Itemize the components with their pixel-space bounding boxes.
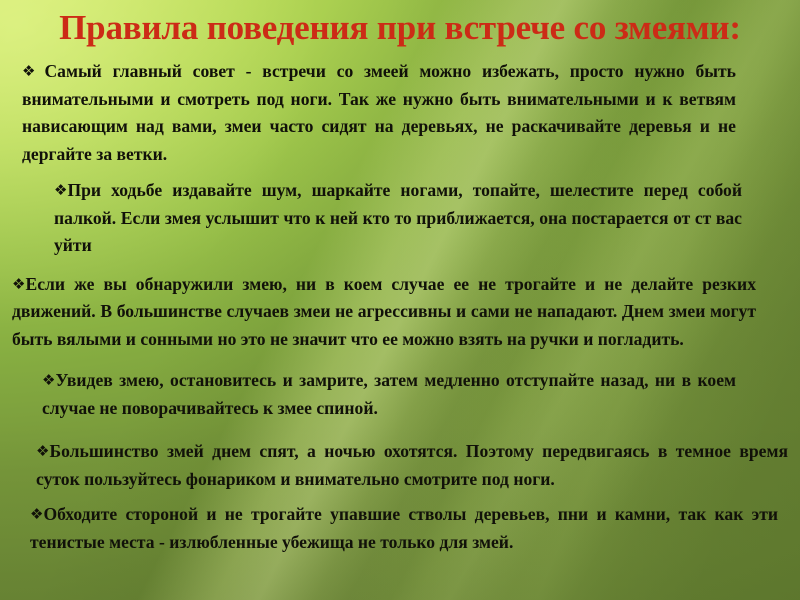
bullet-text-2: При ходьбе издавайте шум, шаркайте ногам…: [54, 180, 742, 255]
bullet-text-4: Увидев змею, остановитесь и замрите, зат…: [42, 370, 736, 418]
slide-content: Правила поведения при встрече со змеями:…: [0, 0, 800, 600]
slide-body: ❖Самый главный совет - встречи со змеей …: [0, 58, 800, 556]
bullet-text-5: Большинство змей днем спят, а ночью охот…: [36, 441, 788, 489]
bullet-item-1: ❖Самый главный совет - встречи со змеей …: [22, 58, 736, 168]
bullet-item-3: ❖Если же вы обнаружили змею, ни в коем с…: [12, 271, 756, 354]
bullet-item-5: ❖Большинство змей днем спят, а ночью охо…: [36, 438, 788, 493]
floral-diamond-bullet-icon: ❖: [42, 373, 55, 388]
floral-diamond-bullet-icon: ❖: [22, 64, 35, 79]
bullet-item-2: ❖При ходьбе издавайте шум, шаркайте нога…: [54, 177, 742, 260]
floral-diamond-bullet-icon: ❖: [36, 444, 49, 459]
slide-title: Правила поведения при встрече со змеями:: [0, 6, 800, 50]
floral-diamond-bullet-icon: ❖: [54, 183, 67, 198]
bullet-item-4: ❖Увидев змею, остановитесь и замрите, за…: [42, 367, 736, 422]
slide-canvas: Правила поведения при встрече со змеями:…: [0, 0, 800, 600]
bullet-text-1: Самый главный совет - встречи со змеей м…: [22, 61, 736, 164]
floral-diamond-bullet-icon: ❖: [12, 277, 25, 292]
bullet-item-6: ❖Обходите стороной и не трогайте упавшие…: [30, 501, 778, 556]
bullet-text-3: Если же вы обнаружили змею, ни в коем сл…: [12, 274, 756, 349]
floral-diamond-bullet-icon: ❖: [30, 507, 43, 522]
bullet-text-6: Обходите стороной и не трогайте упавшие …: [30, 504, 778, 552]
